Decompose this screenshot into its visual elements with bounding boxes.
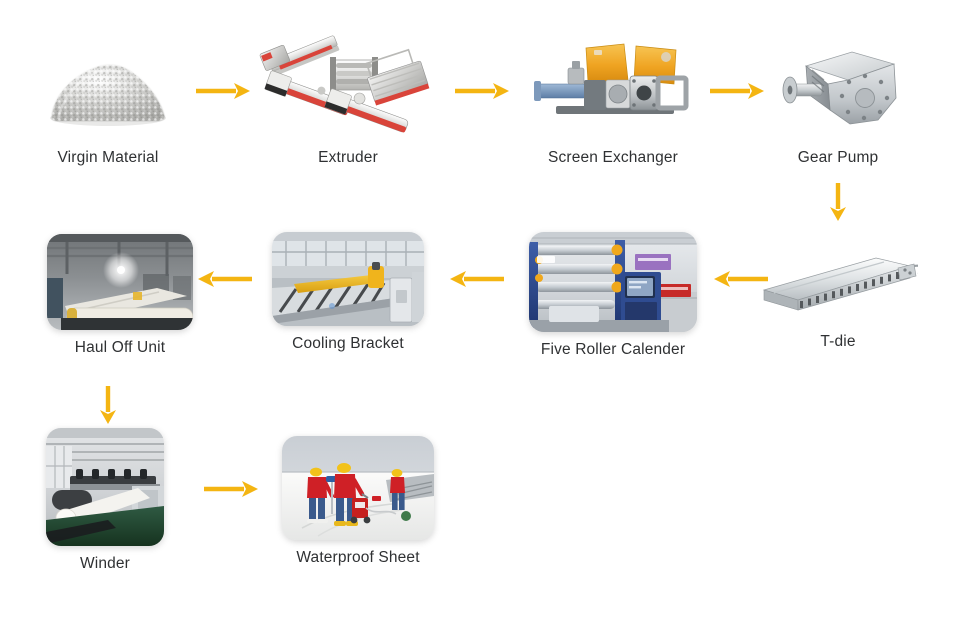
node-label: Gear Pump: [798, 149, 879, 167]
arrow-screen-to-pump: [710, 80, 766, 102]
node-screen-exchanger[interactable]: Screen Exchanger: [528, 36, 698, 167]
node-label: Haul Off Unit: [75, 339, 165, 357]
arrow-winder-to-sheet: [204, 478, 260, 500]
node-winder[interactable]: Winder: [45, 428, 165, 573]
calender-photo: [529, 232, 697, 332]
arrow-pump-to-tdie: [827, 183, 849, 223]
node-label: Cooling Bracket: [292, 335, 404, 353]
granule-pile-icon: [28, 40, 188, 140]
winder-photo: [46, 428, 164, 546]
arrow-cooling-to-hauloff: [196, 268, 252, 290]
node-extruder[interactable]: Extruder: [258, 26, 438, 167]
t-die-icon: [758, 238, 918, 324]
roofing-photo: [282, 436, 434, 540]
gear-pump-icon: [768, 36, 908, 140]
process-flow-diagram: Virgin Material: [0, 0, 980, 630]
arrow-calender-to-cooling: [448, 268, 504, 290]
arrow-hauloff-to-winder: [97, 386, 119, 426]
node-label: Extruder: [318, 149, 378, 167]
node-gear-pump[interactable]: Gear Pump: [768, 36, 908, 167]
node-waterproof-sheet[interactable]: Waterproof Sheet: [282, 436, 434, 567]
screen-exchanger-icon: [528, 36, 698, 140]
node-label: T-die: [820, 333, 855, 351]
node-virgin-material[interactable]: Virgin Material: [28, 40, 188, 167]
node-five-roller-calender[interactable]: Five Roller Calender: [528, 232, 698, 359]
node-label: Screen Exchanger: [548, 149, 678, 167]
hauloff-photo: [47, 234, 193, 330]
extruder-line-icon: [258, 26, 438, 140]
arrow-extruder-to-screen: [455, 80, 511, 102]
node-haul-off-unit[interactable]: Haul Off Unit: [44, 234, 196, 357]
cooling-photo: [272, 232, 424, 326]
node-label: Virgin Material: [57, 149, 158, 167]
node-label: Waterproof Sheet: [296, 549, 419, 567]
arrow-tdie-to-calender: [712, 268, 768, 290]
node-label: Winder: [80, 555, 130, 573]
node-cooling-bracket[interactable]: Cooling Bracket: [272, 232, 424, 353]
arrow-virgin-to-extruder: [196, 80, 252, 102]
node-label: Five Roller Calender: [541, 341, 685, 359]
node-t-die[interactable]: T-die: [758, 238, 918, 351]
